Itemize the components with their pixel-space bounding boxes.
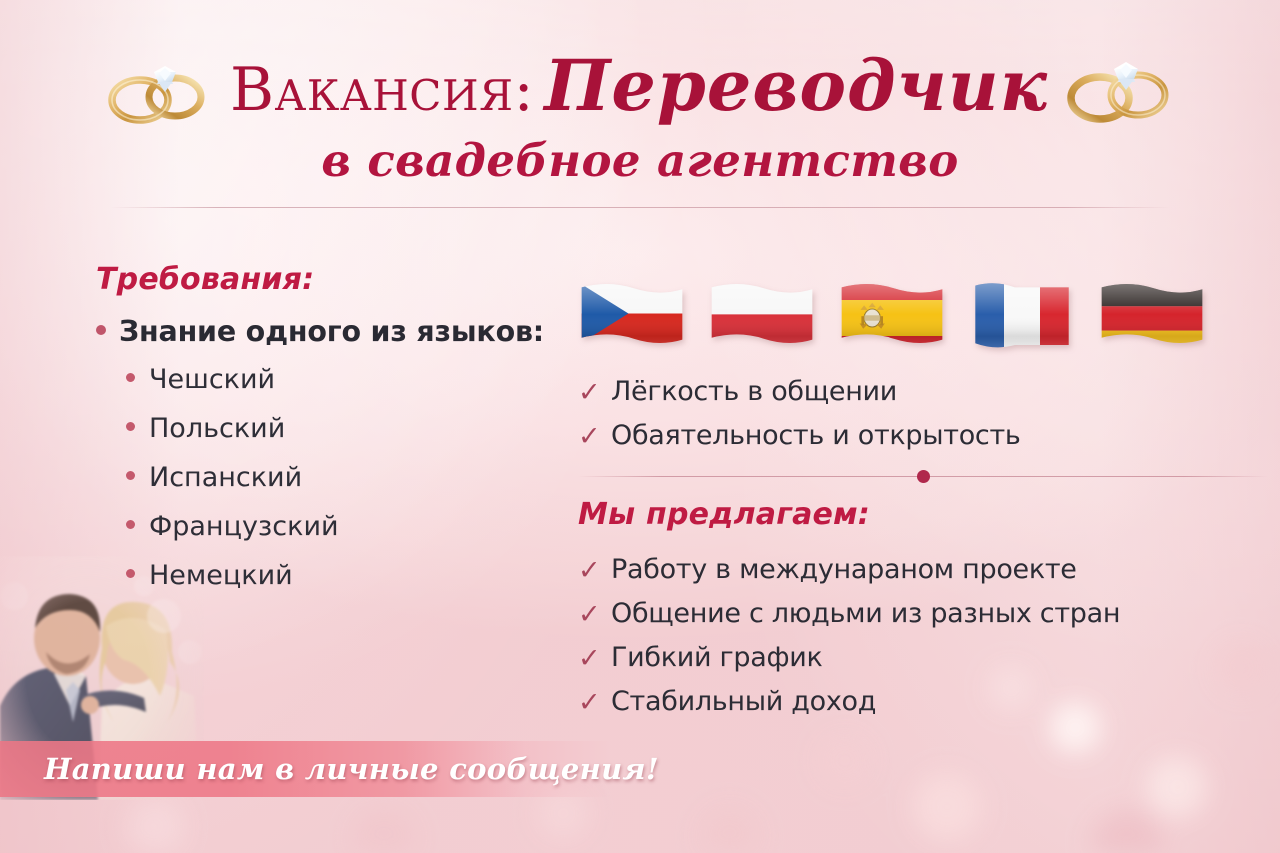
offer-heading: Мы предлагаем: — [578, 497, 1268, 532]
requirements-lead-label: Знание одного из языков: — [119, 315, 544, 348]
divider-dot-icon — [917, 470, 930, 483]
requirements-heading: Требования: — [96, 262, 566, 297]
language-label: Польский — [149, 413, 285, 444]
bullet-icon — [96, 325, 106, 335]
language-label: Французский — [149, 511, 339, 542]
offer-label: Общение с людьми из разных стран — [611, 598, 1120, 629]
list-item: Чешский — [126, 364, 566, 395]
check-icon: ✓ — [578, 423, 598, 447]
section-divider — [578, 467, 1268, 485]
offer-label: Стабильный доход — [611, 686, 876, 717]
title-role: Переводчик — [544, 44, 1048, 127]
bullet-icon — [126, 471, 135, 480]
bullet-icon — [126, 373, 135, 382]
cta-label: Напиши нам в личные сообщения! — [44, 752, 659, 786]
list-item: ✓ Стабильный доход — [578, 686, 1268, 717]
list-item: Испанский — [126, 462, 566, 493]
france-flag-icon — [968, 282, 1076, 354]
offer-label: Гибкий график — [611, 642, 823, 673]
list-item: ✓ Обаятельность и открытость — [578, 420, 1268, 451]
title-prefix: Вакансия: — [230, 55, 534, 125]
language-list: Чешский Польский Испанский Французский Н… — [96, 364, 566, 591]
poster-subtitle: в свадебное агентство — [0, 134, 1280, 187]
offer-column: ✓ Лёгкость в общении ✓ Обаятельность и о… — [578, 282, 1268, 730]
czech-flag-icon — [578, 282, 686, 354]
poster-header: Вакансия:Переводчик в свадебное агентств… — [0, 44, 1280, 208]
header-divider — [110, 207, 1170, 208]
poster: Вакансия:Переводчик в свадебное агентств… — [0, 0, 1280, 853]
wedding-rings-right-icon — [1064, 44, 1176, 126]
language-label: Чешский — [149, 364, 275, 395]
language-label: Немецкий — [149, 560, 293, 591]
wedding-rings-left-icon — [104, 48, 212, 128]
bullet-icon — [126, 520, 135, 529]
quality-label: Лёгкость в общении — [611, 376, 897, 407]
offer-list: ✓ Работу в междунараном проекте ✓ Общени… — [578, 554, 1268, 717]
list-item: Польский — [126, 413, 566, 444]
list-item: ✓ Лёгкость в общении — [578, 376, 1268, 407]
spain-flag-icon — [838, 282, 946, 354]
check-icon: ✓ — [578, 689, 598, 713]
check-icon: ✓ — [578, 601, 598, 625]
requirements-lead-item: Знание одного из языков: — [96, 315, 566, 348]
check-icon: ✓ — [578, 645, 598, 669]
quality-label: Обаятельность и открытость — [611, 420, 1021, 451]
flag-row — [578, 282, 1268, 354]
list-item: Немецкий — [126, 560, 566, 591]
offer-label: Работу в междунараном проекте — [611, 554, 1077, 585]
poster-title: Вакансия:Переводчик — [230, 50, 1048, 123]
list-item: ✓ Общение с людьми из разных стран — [578, 598, 1268, 629]
list-item: ✓ Работу в междунараном проекте — [578, 554, 1268, 585]
check-icon: ✓ — [578, 379, 598, 403]
cta-banner[interactable]: Напиши нам в личные сообщения! — [0, 741, 610, 797]
requirements-column: Требования: Знание одного из языков: Чеш… — [96, 262, 566, 609]
poland-flag-icon — [708, 282, 816, 354]
qualities-list: ✓ Лёгкость в общении ✓ Обаятельность и о… — [578, 376, 1268, 451]
germany-flag-icon — [1098, 282, 1206, 354]
list-item: ✓ Гибкий график — [578, 642, 1268, 673]
list-item: Французский — [126, 511, 566, 542]
bullet-icon — [126, 569, 135, 578]
language-label: Испанский — [149, 462, 302, 493]
title-row: Вакансия:Переводчик — [0, 44, 1280, 128]
check-icon: ✓ — [578, 557, 598, 581]
bullet-icon — [126, 422, 135, 431]
